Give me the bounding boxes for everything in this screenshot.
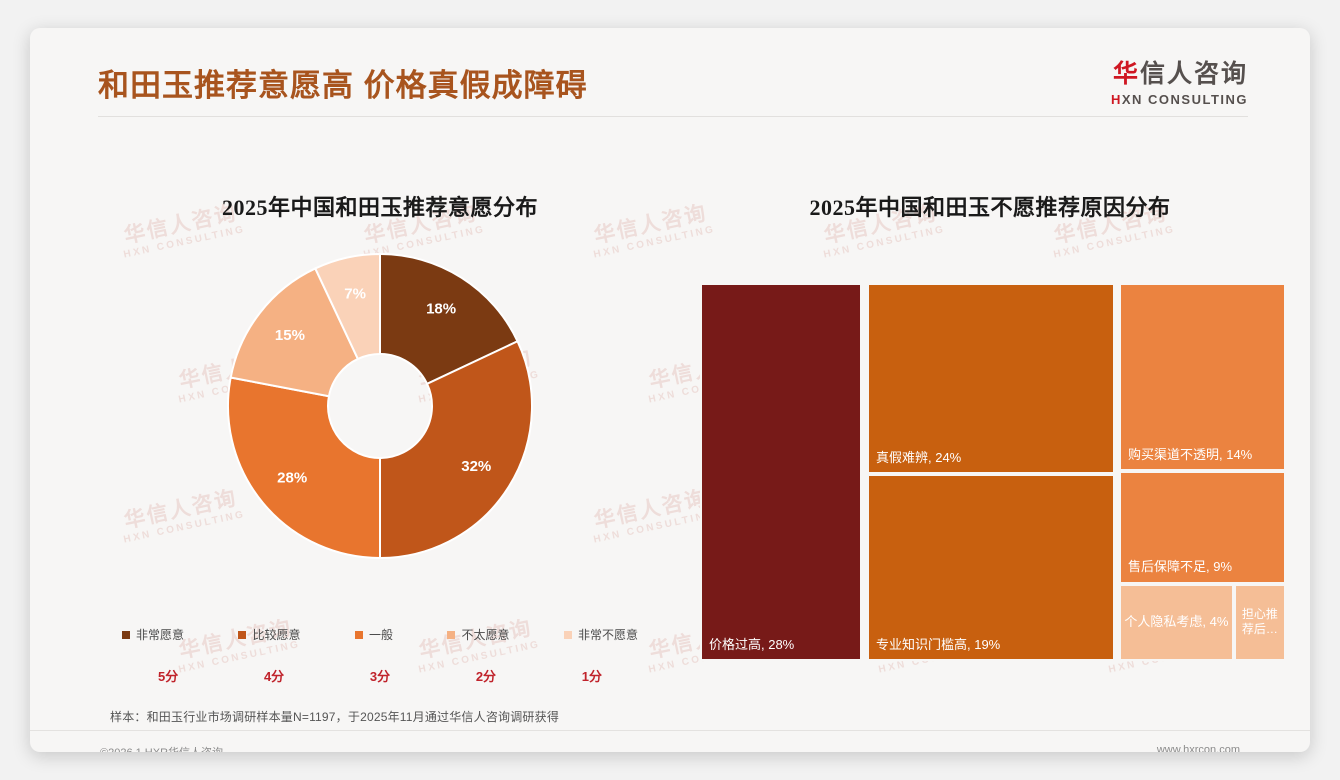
treemap-cell-label: 购买渠道不透明, 14%	[1121, 441, 1259, 469]
logo-chinese: 华信人咨询	[1111, 54, 1248, 90]
donut-chart: 18%32%28%15%7%	[80, 234, 680, 584]
chart-title-donut: 2025年中国和田玉推荐意愿分布	[80, 190, 680, 222]
legend-label: 不太愿意	[461, 626, 509, 643]
donut-slice[interactable]	[380, 341, 532, 558]
logo-chinese-highlight: 华	[1113, 60, 1140, 88]
donut-svg: 18%32%28%15%7%	[200, 234, 560, 584]
donut-slice[interactable]	[228, 378, 380, 558]
legend-label: 非常不愿意	[578, 626, 638, 643]
page-title: 和田玉推荐意愿高 价格真假成障碍	[98, 60, 588, 105]
chart-panel-treemap: 2025年中国和田玉不愿推荐原因分布 价格过高, 28%真假难辨, 24%专业知…	[690, 168, 1290, 708]
slide-footer: ©2026.1 HXR华信人咨询 www.hxrcon.com	[30, 730, 1310, 752]
treemap-cell[interactable]: 个人隐私考虑, 4%	[1119, 584, 1234, 661]
treemap-cell[interactable]: 售后保障不足, 9%	[1119, 471, 1286, 584]
legend-item[interactable]: 比较愿意	[238, 626, 300, 643]
chart-title-treemap: 2025年中国和田玉不愿推荐原因分布	[690, 190, 1290, 222]
legend-label: 比较愿意	[252, 626, 300, 643]
website-text: www.hxrcon.com	[1157, 744, 1240, 752]
donut-slice-label: 18%	[426, 301, 456, 318]
legend-label: 非常愿意	[136, 626, 184, 643]
donut-legend: 非常愿意比较愿意一般不太愿意非常不愿意	[80, 626, 680, 643]
chart-panel-donut: 2025年中国和田玉推荐意愿分布 18%32%28%15%7% 非常愿意比较愿意…	[80, 168, 680, 708]
copyright-text: ©2026.1 HXR华信人咨询	[100, 744, 223, 752]
legend-swatch-icon	[238, 631, 246, 639]
legend-label: 一般	[369, 626, 393, 643]
donut-score-labels: 5分4分3分2分1分	[80, 666, 680, 685]
logo-english: HXN CONSULTING	[1111, 92, 1248, 107]
donut-slice-label: 7%	[344, 286, 366, 303]
legend-item[interactable]: 一般	[355, 626, 393, 643]
donut-slice-label: 28%	[277, 470, 307, 487]
treemap-chart: 价格过高, 28%真假难辨, 24%专业知识门槛高, 19%购买渠道不透明, 1…	[700, 283, 1286, 661]
treemap-cell-label: 担心推荐后…	[1236, 603, 1284, 641]
slide-canvas: 华信人咨询HXN CONSULTING华信人咨询HXN CONSULTING华信…	[30, 28, 1310, 752]
sample-note: 样本：和田玉行业市场调研样本量N=1197，于2025年11月通过华信人咨询调研…	[110, 708, 559, 725]
legend-item[interactable]: 不太愿意	[447, 626, 509, 643]
score-label: 2分	[476, 666, 496, 685]
legend-swatch-icon	[122, 631, 130, 639]
treemap-cell-label: 售后保障不足, 9%	[1121, 553, 1239, 581]
score-label: 3分	[370, 666, 390, 685]
treemap-cell[interactable]: 购买渠道不透明, 14%	[1119, 283, 1286, 471]
legend-swatch-icon	[564, 631, 572, 639]
slide-header: 和田玉推荐意愿高 价格真假成障碍 华信人咨询 HXN CONSULTING	[30, 28, 1310, 122]
brand-logo: 华信人咨询 HXN CONSULTING	[1111, 54, 1248, 107]
treemap-cell[interactable]: 真假难辨, 24%	[867, 283, 1115, 474]
score-label: 5分	[158, 666, 178, 685]
treemap-cell-label: 真假难辨, 24%	[869, 444, 968, 472]
treemap-cell-label: 专业知识门槛高, 19%	[869, 631, 1007, 659]
header-divider	[98, 116, 1248, 117]
donut-slice-label: 32%	[461, 458, 491, 475]
logo-chinese-rest: 信人咨询	[1140, 60, 1248, 88]
logo-english-rest: XN CONSULTING	[1122, 92, 1248, 107]
legend-swatch-icon	[355, 631, 363, 639]
treemap-cell-label: 个人隐私考虑, 4%	[1121, 610, 1231, 634]
legend-item[interactable]: 非常不愿意	[564, 626, 638, 643]
treemap-cell-label: 价格过高, 28%	[702, 631, 801, 659]
score-label: 4分	[264, 666, 284, 685]
treemap-cell[interactable]: 担心推荐后…	[1234, 584, 1286, 661]
legend-swatch-icon	[447, 631, 455, 639]
score-label: 1分	[582, 666, 602, 685]
donut-slice-label: 15%	[275, 327, 305, 344]
legend-item[interactable]: 非常愿意	[122, 626, 184, 643]
logo-english-highlight: H	[1111, 92, 1122, 107]
treemap-cell[interactable]: 价格过高, 28%	[700, 283, 862, 661]
treemap-cell[interactable]: 专业知识门槛高, 19%	[867, 474, 1115, 661]
